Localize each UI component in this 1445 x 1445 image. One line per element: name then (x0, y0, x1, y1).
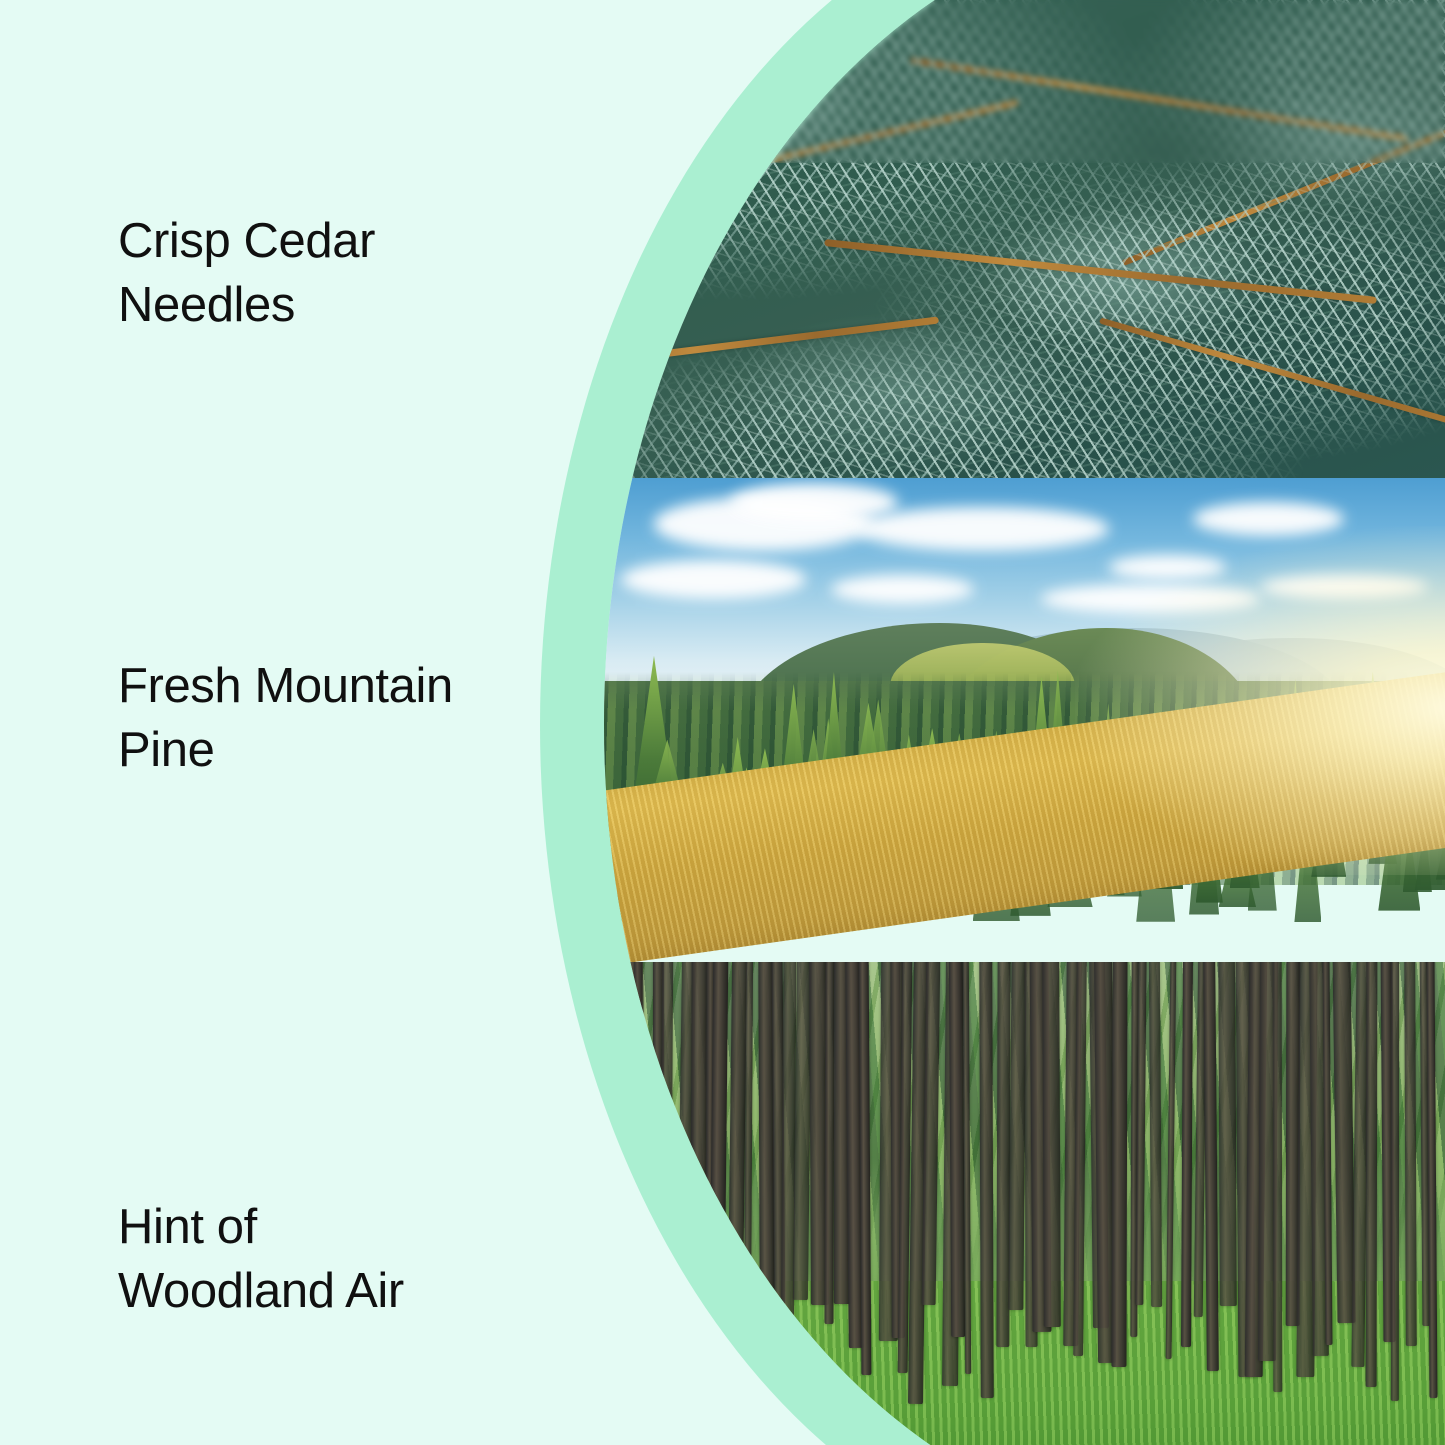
photo-pine-trunk-stand (604, 962, 1445, 1445)
pine-trunk (1112, 962, 1128, 1368)
cloud (1260, 575, 1428, 599)
product-feature-panel: Crisp Cedar Needles Fresh Mountain Pine … (0, 0, 1445, 1445)
cloud (730, 483, 898, 522)
pine-trunk (1404, 962, 1417, 1347)
cloud (1109, 555, 1227, 579)
caption-hint-of-woodland-air: Hint of Woodland Air (118, 1196, 404, 1323)
cloud (831, 575, 974, 604)
pine-trunk (1365, 962, 1376, 1387)
photo-stack (604, 0, 1445, 1445)
photo-spruce-needles-closeup (604, 0, 1445, 478)
pine-trunk (979, 962, 994, 1398)
spruce-depth-blur (604, 0, 1445, 163)
cloud (621, 560, 806, 599)
pine-trunk (1218, 962, 1236, 1307)
pine-trunk (1273, 962, 1282, 1393)
photo-collage-clip (604, 0, 1445, 1445)
pine-trunk (1148, 962, 1161, 1308)
caption-crisp-cedar-needles: Crisp Cedar Needles (118, 210, 375, 337)
photo-mountain-valley-forest (604, 478, 1445, 962)
cloud (1193, 502, 1344, 536)
pine-trunk (825, 962, 835, 1324)
caption-fresh-mountain-pine: Fresh Mountain Pine (118, 655, 453, 782)
cloud (856, 507, 1108, 551)
cloud (1041, 584, 1260, 613)
pine-trunk (1391, 962, 1400, 1402)
pine-trunk (1042, 962, 1060, 1327)
